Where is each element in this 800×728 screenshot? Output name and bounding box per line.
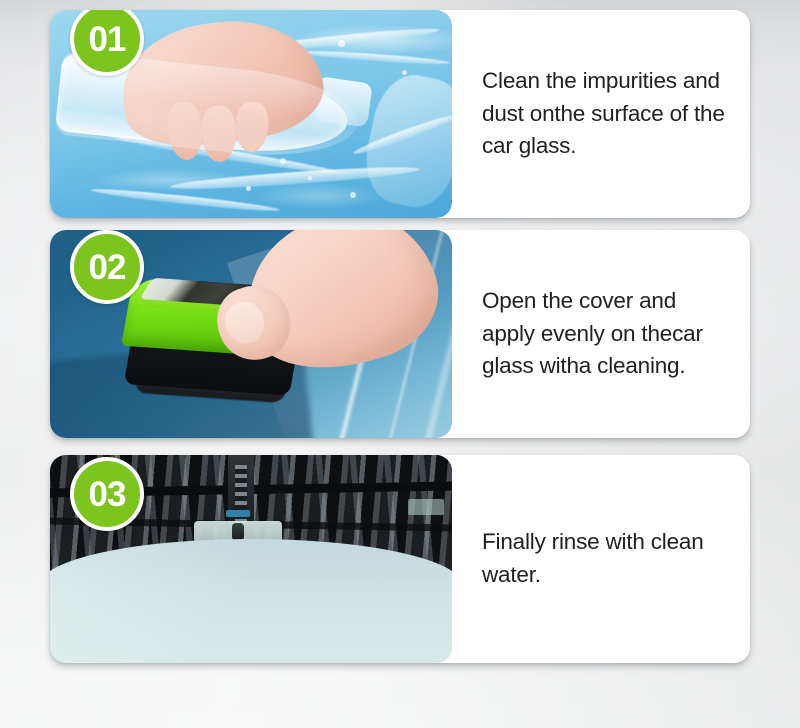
- step-2-description: Open the cover and apply evenly on theca…: [482, 285, 722, 383]
- step-number-label: 02: [89, 250, 126, 285]
- water-droplet: [246, 186, 251, 191]
- step-number-badge-2: 02: [70, 230, 144, 304]
- mirror-mount-accent: [226, 510, 250, 517]
- step-3-text-pane: Finally rinse with clean water.: [452, 455, 750, 663]
- step-number-label: 03: [89, 477, 126, 512]
- windshield-sticker: [408, 499, 444, 515]
- step-card-2: 02 Open the cover and apply evenly on th…: [50, 230, 750, 438]
- step-3-photo: 03: [50, 455, 452, 663]
- step-card-3: 03 Finally rinse with clean water.: [50, 455, 750, 663]
- step-number-label: 01: [89, 22, 126, 57]
- water-droplet: [338, 40, 345, 47]
- steps-list: 01 Clean the impurities and dust onthe s…: [0, 0, 800, 728]
- water-droplet: [402, 70, 407, 75]
- step-1-description: Clean the impurities and dust onthe surf…: [482, 65, 734, 163]
- step-number-badge-3: 03: [70, 457, 144, 531]
- step-2-photo: 02: [50, 230, 452, 438]
- step-1-text-pane: Clean the impurities and dust onthe surf…: [452, 10, 750, 218]
- water-droplet: [280, 158, 286, 164]
- water-droplet: [308, 176, 312, 180]
- windshield-reflection: [50, 539, 452, 663]
- step-1-photo: 01: [50, 10, 452, 218]
- water-droplet: [350, 192, 356, 198]
- step-card-1: 01 Clean the impurities and dust onthe s…: [50, 10, 750, 218]
- step-3-description: Finally rinse with clean water.: [482, 526, 722, 591]
- step-2-text-pane: Open the cover and apply evenly on theca…: [452, 230, 750, 438]
